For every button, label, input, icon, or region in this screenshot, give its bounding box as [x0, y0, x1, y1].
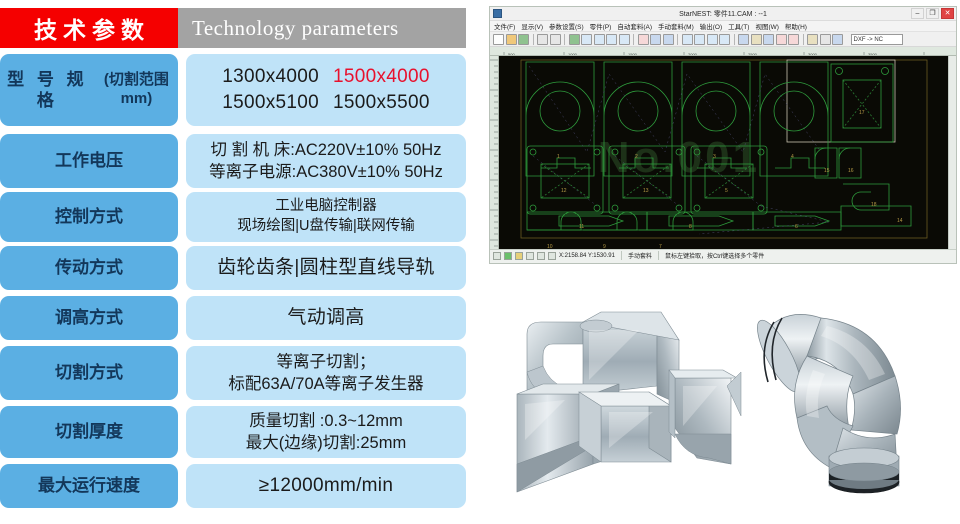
move-up-icon[interactable] [707, 34, 718, 45]
magnifier-minus-icon[interactable] [594, 34, 605, 45]
round-duct-elbow-photo [727, 286, 957, 524]
spec-value-line: 齿轮齿条|圆柱型直线导轨 [217, 255, 435, 281]
spec-row: 最大运行速度≥12000mm/min [0, 464, 466, 508]
sheet-icon[interactable] [788, 34, 799, 45]
magnifier-fit-icon[interactable] [606, 34, 617, 45]
magnifier-window-icon[interactable] [619, 34, 630, 45]
spec-label-text: 型 号 规 格 [0, 69, 95, 112]
spec-label-text: 传动方式 [55, 257, 123, 278]
spec-value-cell: 工业电脑控制器现场绘图|U盘传输|联网传输 [186, 192, 466, 242]
spec-value-line: 标配63A/70A等离子发生器 [228, 373, 423, 395]
cad-menu-bar: 文件(F)显示(V)参数设置(S)零件(P)自动套料(A)手动套料(M)输出(O… [490, 21, 956, 32]
spec-value-line: 质量切割 :0.3~12mm [249, 410, 403, 432]
spec-value-cell: ≥12000mm/min [186, 464, 466, 508]
format-convert-combo[interactable]: DXF -> NC [851, 34, 903, 45]
header-title-cn: 技术参数 [0, 8, 178, 48]
cad-menu-item[interactable]: 自动套料(A) [617, 21, 652, 31]
spec-row: 调高方式气动调高 [0, 296, 466, 340]
rotate-icon[interactable] [638, 34, 649, 45]
part-number-label: 10 [547, 244, 553, 249]
maximize-button[interactable]: ❐ [926, 8, 939, 19]
spec-label-text: 调高方式 [55, 307, 123, 328]
spec-value-line: 等离子切割； [277, 351, 376, 373]
spec-value-line: 最大(边缘)切割:25mm [246, 432, 406, 454]
spec-label-cell: 传动方式 [0, 246, 178, 290]
spec-value-line: ≥12000mm/min [259, 473, 393, 499]
spec-value-cell: 1300x40001500x40001500x51001500x5500 [186, 54, 466, 126]
minimize-button[interactable]: – [911, 8, 924, 19]
status-icon-grid[interactable] [515, 252, 523, 260]
cad-menu-item[interactable]: 输出(O) [700, 21, 722, 31]
cad-toolbar: DXF -> NC [490, 32, 956, 47]
part-number-label: 12 [561, 188, 567, 194]
cad-menu-item[interactable]: 零件(P) [590, 21, 612, 31]
spec-row: 控制方式工业电脑控制器现场绘图|U盘传输|联网传输 [0, 192, 466, 242]
cad-window-title: StarNEST: 零件11.CAM : --1 [490, 9, 956, 19]
cad-application-window[interactable]: StarNEST: 零件11.CAM : --1 – ❐ ✕ 文件(F)显示(V… [489, 6, 957, 264]
spec-value-cell: 切 割 机 床:AC220V±10% 50Hz等离子电源:AC380V±10% … [186, 134, 466, 188]
cad-menu-item[interactable]: 显示(V) [521, 21, 543, 31]
status-divider-2 [658, 251, 659, 260]
part-number-label: 7 [659, 244, 662, 249]
spec-label-cell: 最大运行速度 [0, 464, 178, 508]
slide-root: 技术参数 Technology parameters 型 号 规 格(切割范围m… [0, 0, 960, 524]
cad-title-bar: StarNEST: 零件11.CAM : --1 – ❐ ✕ [490, 7, 956, 21]
magnifier-icon[interactable] [581, 34, 592, 45]
part-number-label: 6 [795, 224, 798, 230]
vertical-ruler-ticks [490, 56, 499, 249]
spec-value-line: 等离子电源:AC380V±10% 50Hz [209, 161, 443, 183]
part-number-label: 16 [848, 168, 854, 174]
mirror-icon[interactable] [738, 34, 749, 45]
zoom-out-icon[interactable] [550, 34, 561, 45]
new-file-icon[interactable] [493, 34, 504, 45]
undo-icon[interactable] [832, 34, 843, 45]
spec-value-cell: 气动调高 [186, 296, 466, 340]
cad-menu-item[interactable]: 视图(W) [755, 21, 778, 31]
cad-menu-item[interactable]: 参数设置(S) [549, 21, 584, 31]
nest-icon[interactable] [751, 34, 762, 45]
cad-menu-item[interactable]: 手动套料(M) [658, 21, 694, 31]
grid-icon[interactable] [569, 34, 580, 45]
part-number-label: 3 [713, 154, 716, 160]
align-top-icon[interactable] [650, 34, 661, 45]
part-number-label: 9 [603, 244, 606, 249]
status-divider-1 [621, 251, 622, 260]
horizontal-ruler: 500100015002000250030003500 [490, 47, 956, 56]
spec-row: 切割厚度质量切割 :0.3~12mm最大(边缘)切割:25mm [0, 406, 466, 458]
part-number-label: 13 [643, 188, 649, 194]
spec-label-text: 切割厚度 [55, 421, 123, 442]
status-mode: 手动套料 [628, 251, 652, 260]
part-number-label: 11 [579, 224, 584, 230]
toolbar-separator [734, 34, 735, 45]
product-photos [489, 286, 959, 524]
select-icon[interactable] [820, 34, 831, 45]
part-number-label: 1 [557, 154, 560, 160]
toolbar-separator [677, 34, 678, 45]
status-hint: 鼠标左键拾取，按Ctrl键选择多个零件 [665, 251, 764, 260]
cad-menu-item[interactable]: 文件(F) [494, 21, 515, 31]
nesting-drawing [499, 56, 948, 249]
window-controls: – ❐ ✕ [911, 8, 954, 19]
cad-menu-item[interactable]: 帮助(H) [785, 21, 807, 31]
spec-label-subtext: (切割范围mm) [95, 71, 178, 109]
spec-label-cell: 型 号 规 格(切割范围mm) [0, 54, 178, 126]
toolbar-separator [564, 34, 565, 45]
status-icon-zoom[interactable] [548, 252, 556, 260]
move-down-icon[interactable] [694, 34, 705, 45]
status-icon-1[interactable] [493, 252, 501, 260]
spec-label-cell: 控制方式 [0, 192, 178, 242]
spec-label-text: 控制方式 [55, 206, 123, 227]
status-icon-snap[interactable] [504, 252, 512, 260]
status-icon-osnap[interactable] [537, 252, 545, 260]
status-coordinates: X:2158.84 Y:1530.91 [559, 253, 615, 259]
spec-dimension-line: 1300x40001500x4000 [222, 64, 430, 90]
part-number-label: 15 [824, 168, 830, 174]
part-number-label: 5 [725, 188, 728, 194]
dimension-option: 1500x5100 [222, 90, 319, 116]
duct-fittings-photo [489, 286, 739, 524]
spec-label-cell: 工作电压 [0, 134, 178, 188]
header-title-en: Technology parameters [178, 8, 466, 48]
toolbar-separator [633, 34, 634, 45]
spec-row: 传动方式齿轮齿条|圆柱型直线导轨 [0, 246, 466, 290]
spec-label-text: 切割方式 [55, 362, 123, 383]
part-number-label: 18 [871, 202, 877, 208]
toolbar-separator [803, 34, 804, 45]
vertical-ruler [490, 56, 499, 249]
spec-row: 工作电压切 割 机 床:AC220V±10% 50Hz等离子电源:AC380V±… [0, 134, 466, 188]
spec-value-line: 切 割 机 床:AC220V±10% 50Hz [211, 139, 442, 161]
status-icon-ortho[interactable] [526, 252, 534, 260]
toolbar-separator [533, 34, 534, 45]
spec-label-text: 工作电压 [55, 150, 123, 171]
cad-drawing-canvas[interactable]: No.001 [499, 56, 948, 249]
part-number-label: 17 [859, 110, 865, 116]
spec-row: 切割方式等离子切割；标配63A/70A等离子发生器 [0, 346, 466, 400]
spec-label-text: 最大运行速度 [38, 475, 140, 496]
part-number-label: 4 [791, 154, 794, 160]
dimension-option: 1500x5500 [333, 90, 430, 116]
part-number-label: 14 [897, 218, 903, 224]
spec-value-cell: 齿轮齿条|圆柱型直线导轨 [186, 246, 466, 290]
move-left-icon[interactable] [682, 34, 693, 45]
spec-row: 型 号 规 格(切割范围mm)1300x40001500x40001500x51… [0, 54, 466, 126]
spec-value-cell: 质量切割 :0.3~12mm最大(边缘)切割:25mm [186, 406, 466, 458]
cad-body: No.001 [490, 56, 956, 249]
part-number-label: 2 [635, 154, 638, 160]
canvas-vertical-scrollbar[interactable] [948, 56, 956, 249]
dimension-option: 1300x4000 [222, 64, 319, 90]
spec-label-cell: 切割厚度 [0, 406, 178, 458]
spec-table-panel: 技术参数 Technology parameters 型 号 规 格(切割范围m… [0, 0, 482, 524]
spec-value-line: 工业电脑控制器 [275, 197, 377, 217]
move-right-icon[interactable] [719, 34, 730, 45]
zoom-in-icon[interactable] [537, 34, 548, 45]
spec-label-cell: 切割方式 [0, 346, 178, 400]
cad-status-bar: X:2158.84 Y:1530.91 手动套料 鼠标左键拾取，按Ctrl键选择… [490, 249, 956, 261]
spec-value-line: 气动调高 [287, 305, 364, 331]
align-left-icon[interactable] [663, 34, 674, 45]
cad-menu-item[interactable]: 工具(T) [728, 21, 749, 31]
spec-label-cell: 调高方式 [0, 296, 178, 340]
dimension-option: 1500x4000 [333, 64, 430, 90]
open-file-icon[interactable] [506, 34, 517, 45]
part-number-label: 8 [689, 224, 692, 230]
close-button[interactable]: ✕ [941, 8, 954, 19]
spec-dimension-line: 1500x51001500x5500 [222, 90, 430, 116]
array-icon[interactable] [763, 34, 774, 45]
spec-value-line: 现场绘图|U盘传输|联网传输 [237, 217, 415, 237]
part-icon[interactable] [776, 34, 787, 45]
color-icon[interactable] [807, 34, 818, 45]
spec-value-cell: 等离子切割；标配63A/70A等离子发生器 [186, 346, 466, 400]
save-file-icon[interactable] [518, 34, 529, 45]
spec-header: 技术参数 Technology parameters [0, 8, 466, 48]
